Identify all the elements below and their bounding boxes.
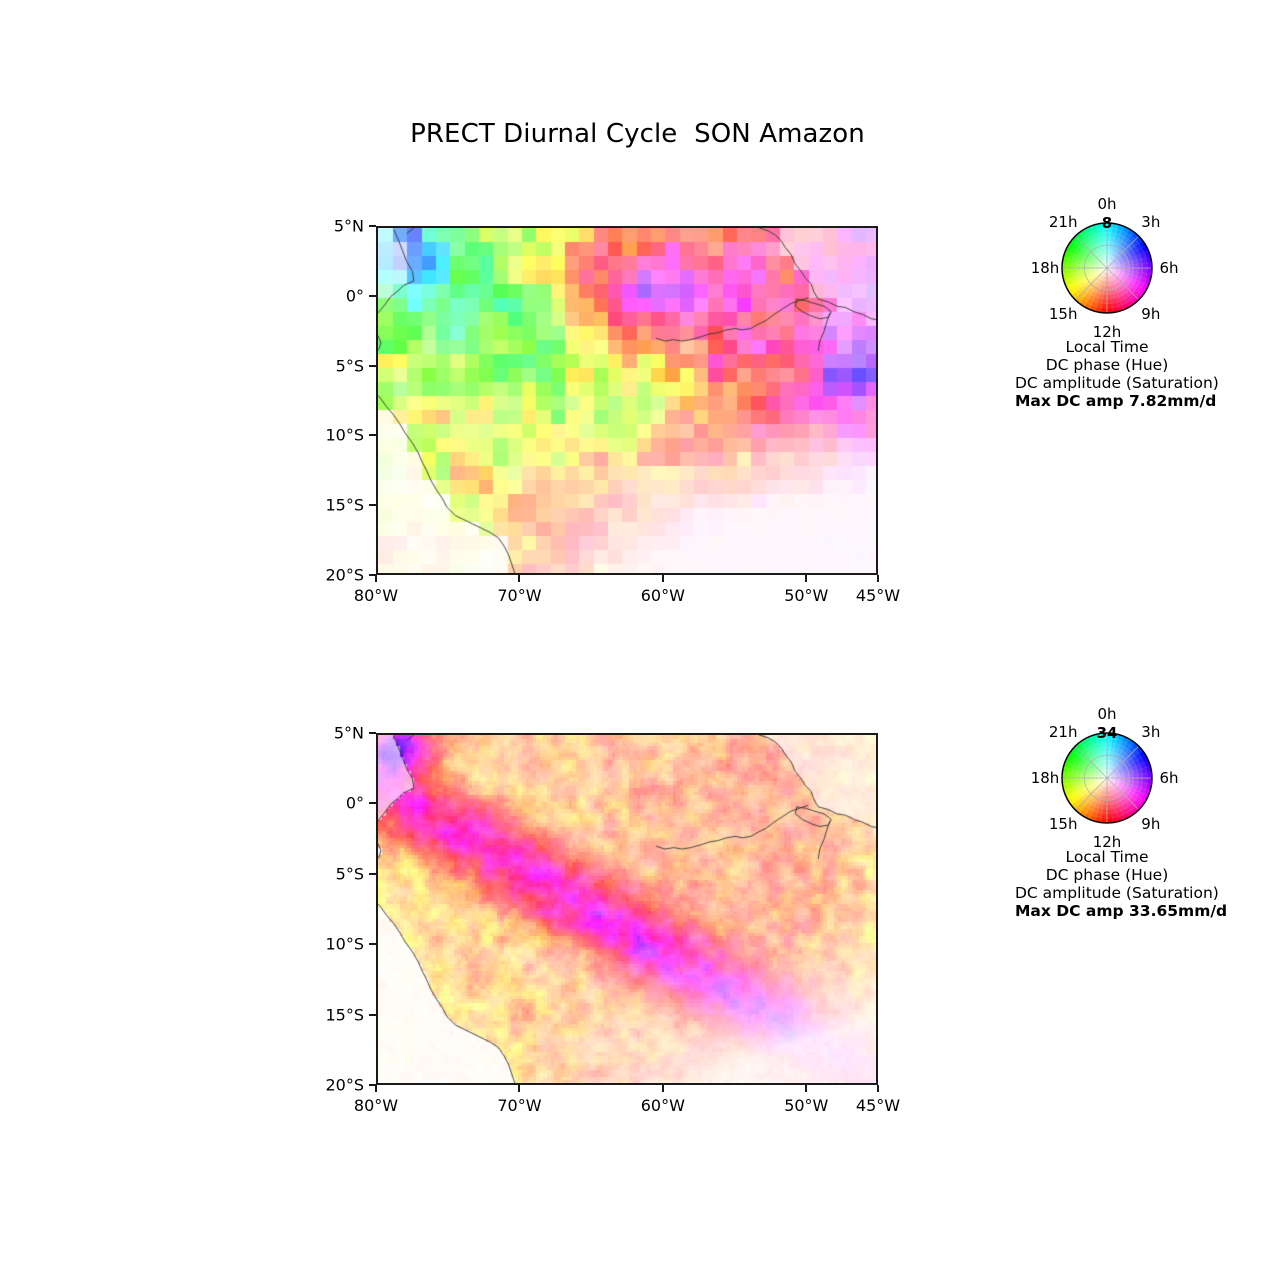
x-tick-label: 60°W [641,1096,685,1115]
y-tick-mark [369,802,376,804]
wheel-hour-label: 18h [1031,769,1060,787]
map-axes-trmm[interactable]: TRMM-3B43v-7 (1998-2013) [376,733,878,1085]
legend-caption-line: DC phase (Hue) [1015,356,1199,374]
y-tick-label: 5°N [294,724,364,743]
x-tick-mark [805,1085,807,1092]
wheel-hour-label: 0h [1097,195,1116,213]
legend-max-dc-amplitude: Max DC amp 7.82mm/d [1015,392,1199,410]
legend-caption-line: Local Time [1015,338,1199,356]
figure-canvas: PRECT Diurnal Cycle SON Amazon e3sm_v2 (… [0,0,1275,1275]
x-tick-mark [877,1085,879,1092]
x-tick-mark [518,1085,520,1092]
y-tick-label: 10°S [294,935,364,954]
legend-caption-line: DC phase (Hue) [1015,866,1199,884]
wheel-hour-label: 15h [1049,815,1078,833]
wheel-hour-label: 18h [1031,259,1060,277]
y-tick-label: 0° [294,794,364,813]
colorwheel-legend-e3sm-v2: 0h3h6h9h12h15h18h21h8Local TimeDC phase … [1015,204,1199,486]
x-tick-label: 80°W [354,1096,398,1115]
wheel-hour-label: 6h [1159,769,1178,787]
wheel-hour-label: 9h [1141,305,1160,323]
wheel-radial-max-label: 8 [1102,214,1112,232]
y-tick-mark [369,1014,376,1016]
y-tick-label: 20°S [294,1076,364,1095]
y-tick-mark [369,732,376,734]
colorwheel-icon [1061,222,1153,314]
wheel-hour-label: 21h [1049,213,1078,231]
y-tick-mark [369,943,376,945]
x-tick-mark [375,1085,377,1092]
colorwheel-wrap-trmm [1061,732,1153,824]
legend-caption-line: Local Time [1015,848,1199,866]
wheel-hour-label: 6h [1159,259,1178,277]
wheel-hour-label: 21h [1049,723,1078,741]
legend-max-dc-amplitude: Max DC amp 33.65mm/d [1015,902,1199,920]
y-tick-mark [369,873,376,875]
wheel-hour-label: 9h [1141,815,1160,833]
wheel-hour-label: 0h [1097,705,1116,723]
legend-caption-line: DC amplitude (Saturation) [1015,374,1199,392]
colorwheel-legend-trmm: 0h3h6h9h12h15h18h21h34Local TimeDC phase… [1015,714,1199,996]
wheel-hour-label: 15h [1049,305,1078,323]
colorwheel-wrap-e3sm-v2 [1061,222,1153,314]
wheel-hour-label: 3h [1141,723,1160,741]
diurnal-phase-map-trmm [378,735,878,1085]
legend-caption-line: DC amplitude (Saturation) [1015,884,1199,902]
panel-trmm: TRMM-3B43v-7 (1998-2013) 5°N0°5°S10°S15°… [0,0,1275,1275]
x-tick-label: 45°W [856,1096,900,1115]
wheel-hour-label: 3h [1141,213,1160,231]
y-tick-label: 15°S [294,1005,364,1024]
x-tick-mark [662,1085,664,1092]
x-tick-label: 70°W [497,1096,541,1115]
x-tick-label: 50°W [784,1096,828,1115]
y-tick-label: 5°S [294,864,364,883]
colorwheel-icon [1061,732,1153,824]
wheel-radial-max-label: 34 [1097,724,1118,742]
